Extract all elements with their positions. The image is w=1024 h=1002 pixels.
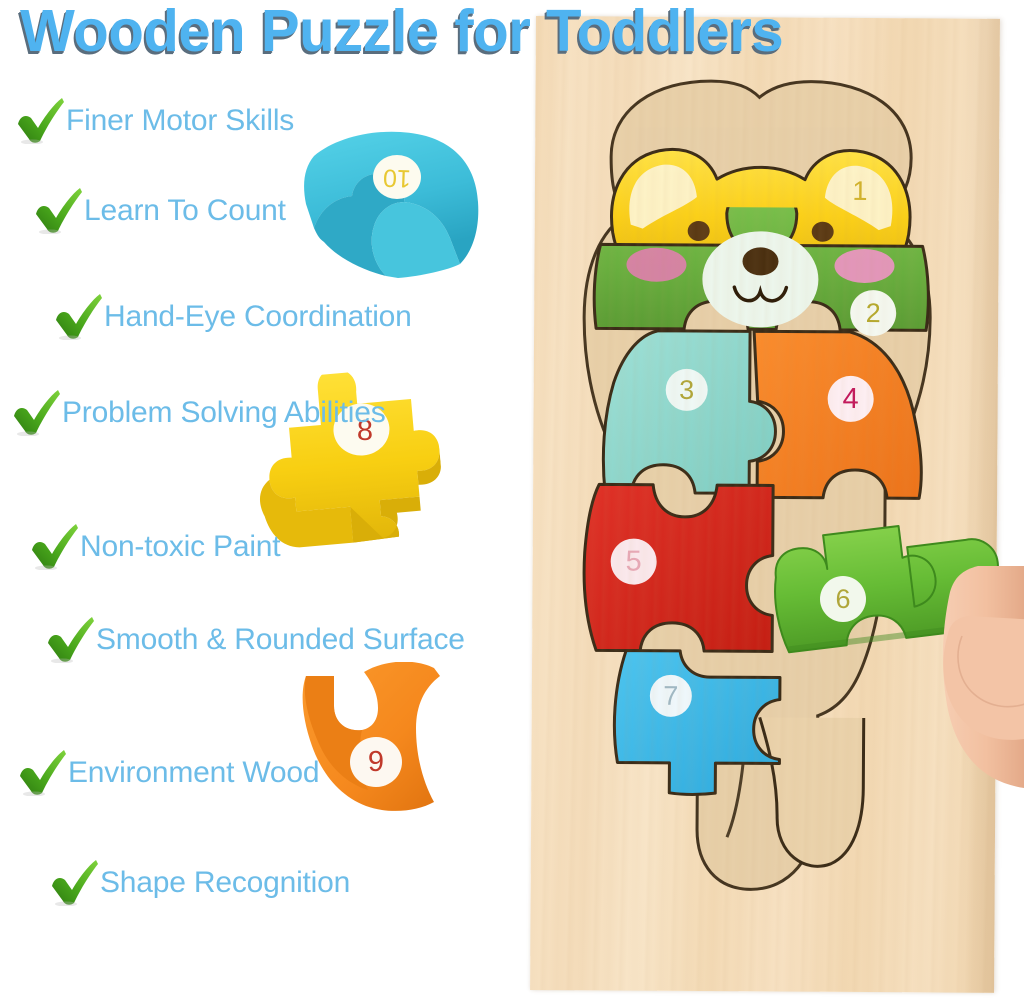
feature-item-shape-recognition: Shape Recognition <box>48 860 350 906</box>
feature-label: Hand-Eye Coordination <box>104 300 412 334</box>
check-icon <box>10 390 62 436</box>
feature-label: Problem Solving Abilities <box>62 396 386 430</box>
puzzle-piece-5[interactable]: 5 <box>574 476 781 659</box>
hand <box>938 560 1024 820</box>
feature-item-non-toxic-paint: Non-toxic Paint <box>28 524 280 570</box>
feature-item-problem-solving-abilities: Problem Solving Abilities <box>10 390 386 436</box>
feature-label: Environment Wood <box>68 756 319 790</box>
check-icon <box>48 860 100 906</box>
piece-7-number: 7 <box>650 675 692 717</box>
page-title: Wooden Puzzle for Toddlers <box>20 0 966 64</box>
feature-item-finer-motor-skills: Finer Motor Skills <box>14 98 294 144</box>
piece-4-number: 4 <box>828 376 874 422</box>
feature-label: Smooth & Rounded Surface <box>96 623 465 657</box>
check-icon <box>32 188 84 234</box>
check-icon <box>44 617 96 663</box>
feature-label: Shape Recognition <box>100 866 350 900</box>
feature-item-smooth-rounded-surface: Smooth & Rounded Surface <box>44 617 465 663</box>
feature-item-hand-eye-coordination: Hand-Eye Coordination <box>52 294 412 340</box>
check-icon <box>52 294 104 340</box>
puzzle-piece-10: 10 <box>300 118 485 283</box>
check-icon <box>28 524 80 570</box>
feature-label: Finer Motor Skills <box>66 104 294 138</box>
product-image: 1 2 <box>0 0 1024 1002</box>
piece-9-number: 9 <box>358 744 394 780</box>
feature-label: Non-toxic Paint <box>80 530 280 564</box>
feature-item-environment-wood: Environment Wood <box>16 750 319 796</box>
check-icon <box>16 750 68 796</box>
piece-5-number: 5 <box>611 538 657 584</box>
piece-6-number: 6 <box>820 576 866 622</box>
piece-1-number: 1 <box>843 174 877 208</box>
piece-3-number: 3 <box>666 369 708 411</box>
feature-label: Learn To Count <box>84 194 286 228</box>
feature-item-learn-to-count: Learn To Count <box>32 188 286 234</box>
check-icon <box>14 98 66 144</box>
